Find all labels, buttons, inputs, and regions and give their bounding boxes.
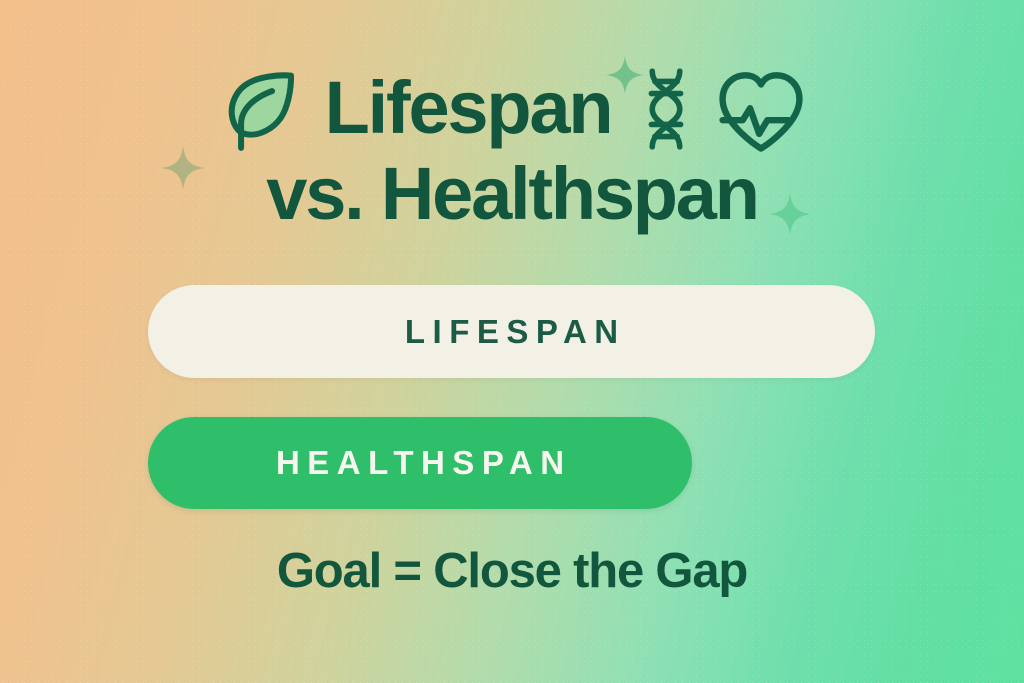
comparison-bars: LIFESPAN HEALTHSPAN [148, 285, 875, 509]
headline-line-one: Lifespan [325, 72, 612, 145]
headline-row-two: vs. Healthspan [0, 158, 1024, 231]
bar-lifespan[interactable]: LIFESPAN [148, 285, 875, 378]
headline-block: Lifespan [0, 62, 1024, 231]
bar-healthspan[interactable]: HEALTHSPAN [148, 417, 692, 509]
headline-line-two: vs. Healthspan [266, 158, 758, 231]
bar-label-healthspan: HEALTHSPAN [268, 444, 571, 482]
dna-icon [637, 66, 695, 152]
goal-statement: Goal = Close the Gap [0, 543, 1024, 599]
headline-row-one: Lifespan [0, 62, 1024, 154]
infographic-poster: Lifespan [0, 0, 1024, 683]
heart-pulse-icon [715, 68, 807, 154]
leaf-icon [217, 67, 303, 153]
bar-label-lifespan: LIFESPAN [397, 313, 625, 351]
